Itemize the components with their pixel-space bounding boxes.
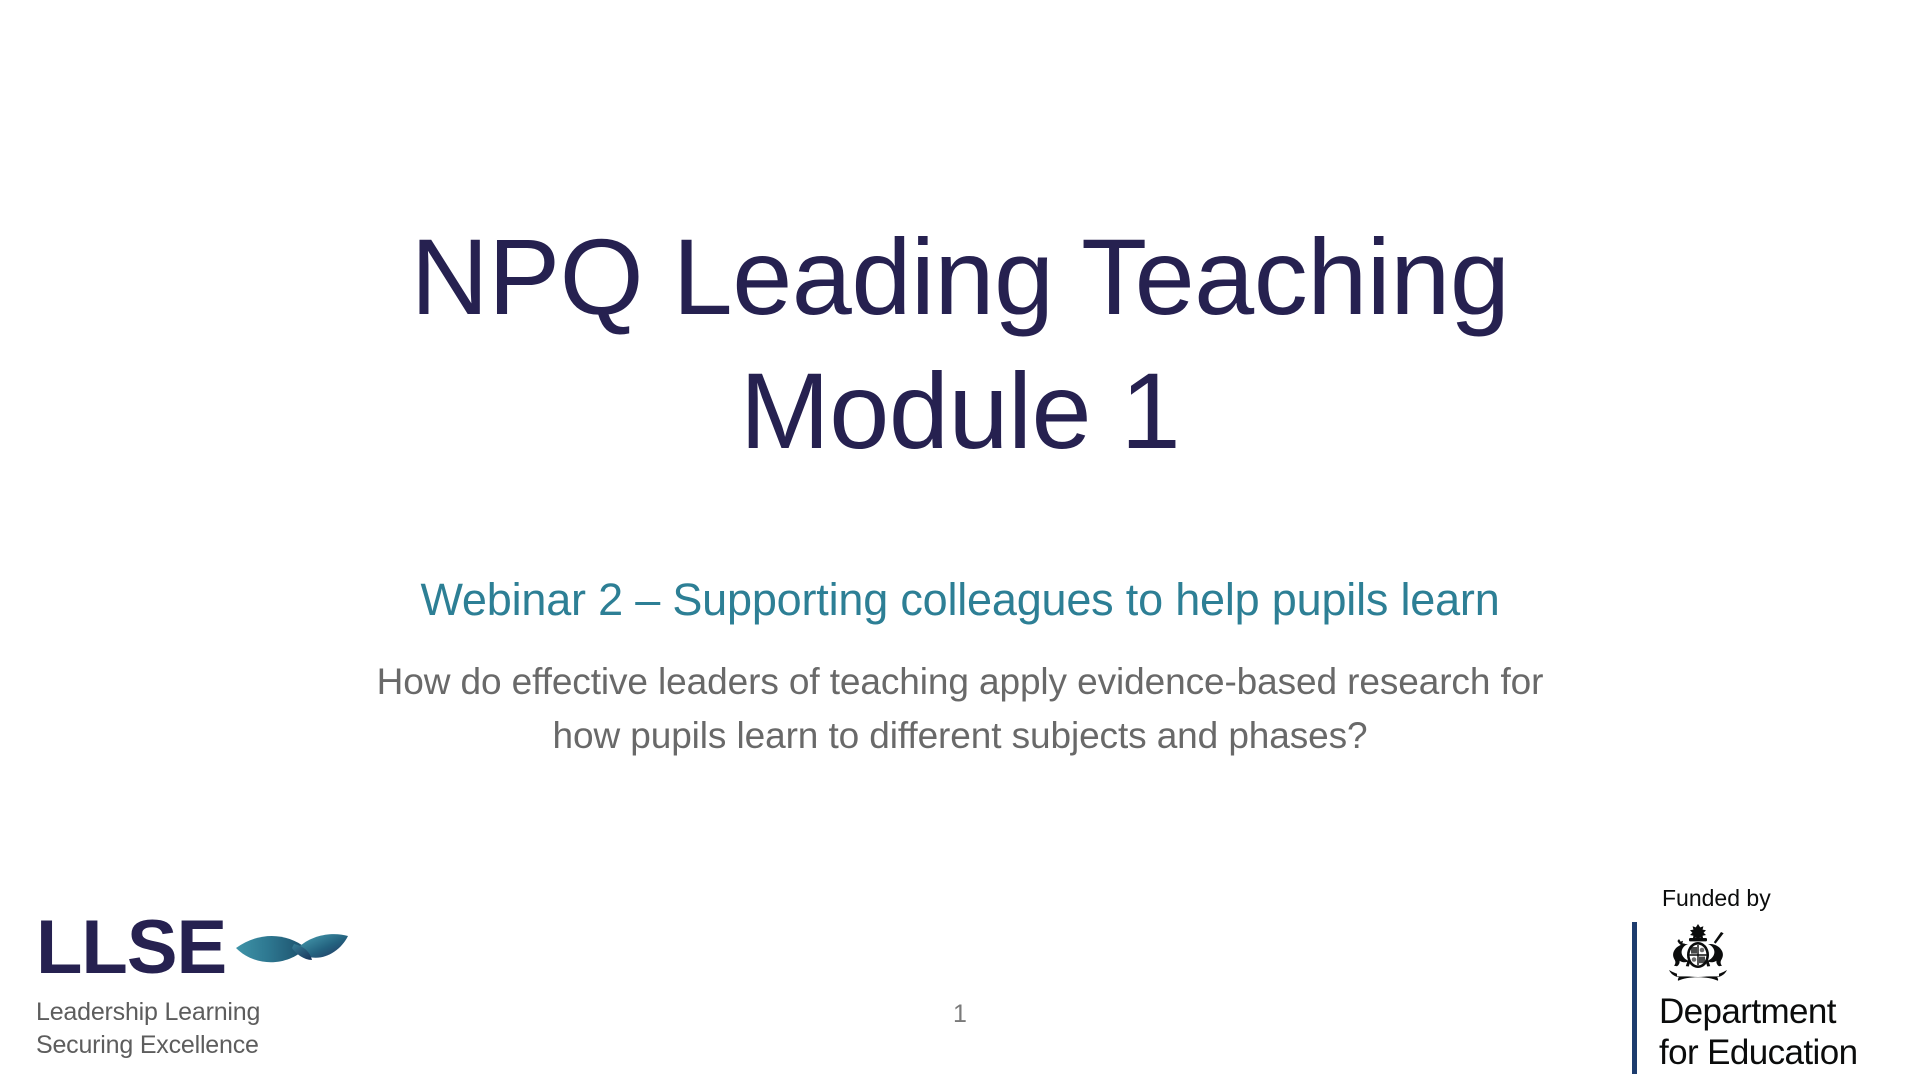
dfe-logo-content: Department for Education [1659, 922, 1912, 1074]
slide-body-question: How do effective leaders of teaching app… [260, 655, 1660, 762]
llse-wordmark: LLSE [36, 912, 226, 984]
slide-canvas: NPQ Leading Teaching Module 1 Webinar 2 … [0, 0, 1920, 1080]
dfe-accent-bar [1632, 922, 1637, 1074]
page-title: NPQ Leading Teaching Module 1 [0, 210, 1920, 478]
slide-subtitle: Webinar 2 – Supporting colleagues to hel… [0, 572, 1920, 628]
llse-logo: LLSE [36, 912, 366, 1063]
dfe-logo: Funded by [1632, 885, 1912, 1074]
page-number: 1 [0, 1000, 1920, 1029]
funded-by-label: Funded by [1662, 885, 1912, 913]
dfe-logo-body: Department for Education [1632, 922, 1912, 1074]
llse-logomark: LLSE [36, 912, 346, 984]
leaf-swoosh-icon [236, 926, 348, 978]
title-block: NPQ Leading Teaching Module 1 [0, 210, 1920, 478]
royal-coat-of-arms-icon [1659, 922, 1737, 984]
